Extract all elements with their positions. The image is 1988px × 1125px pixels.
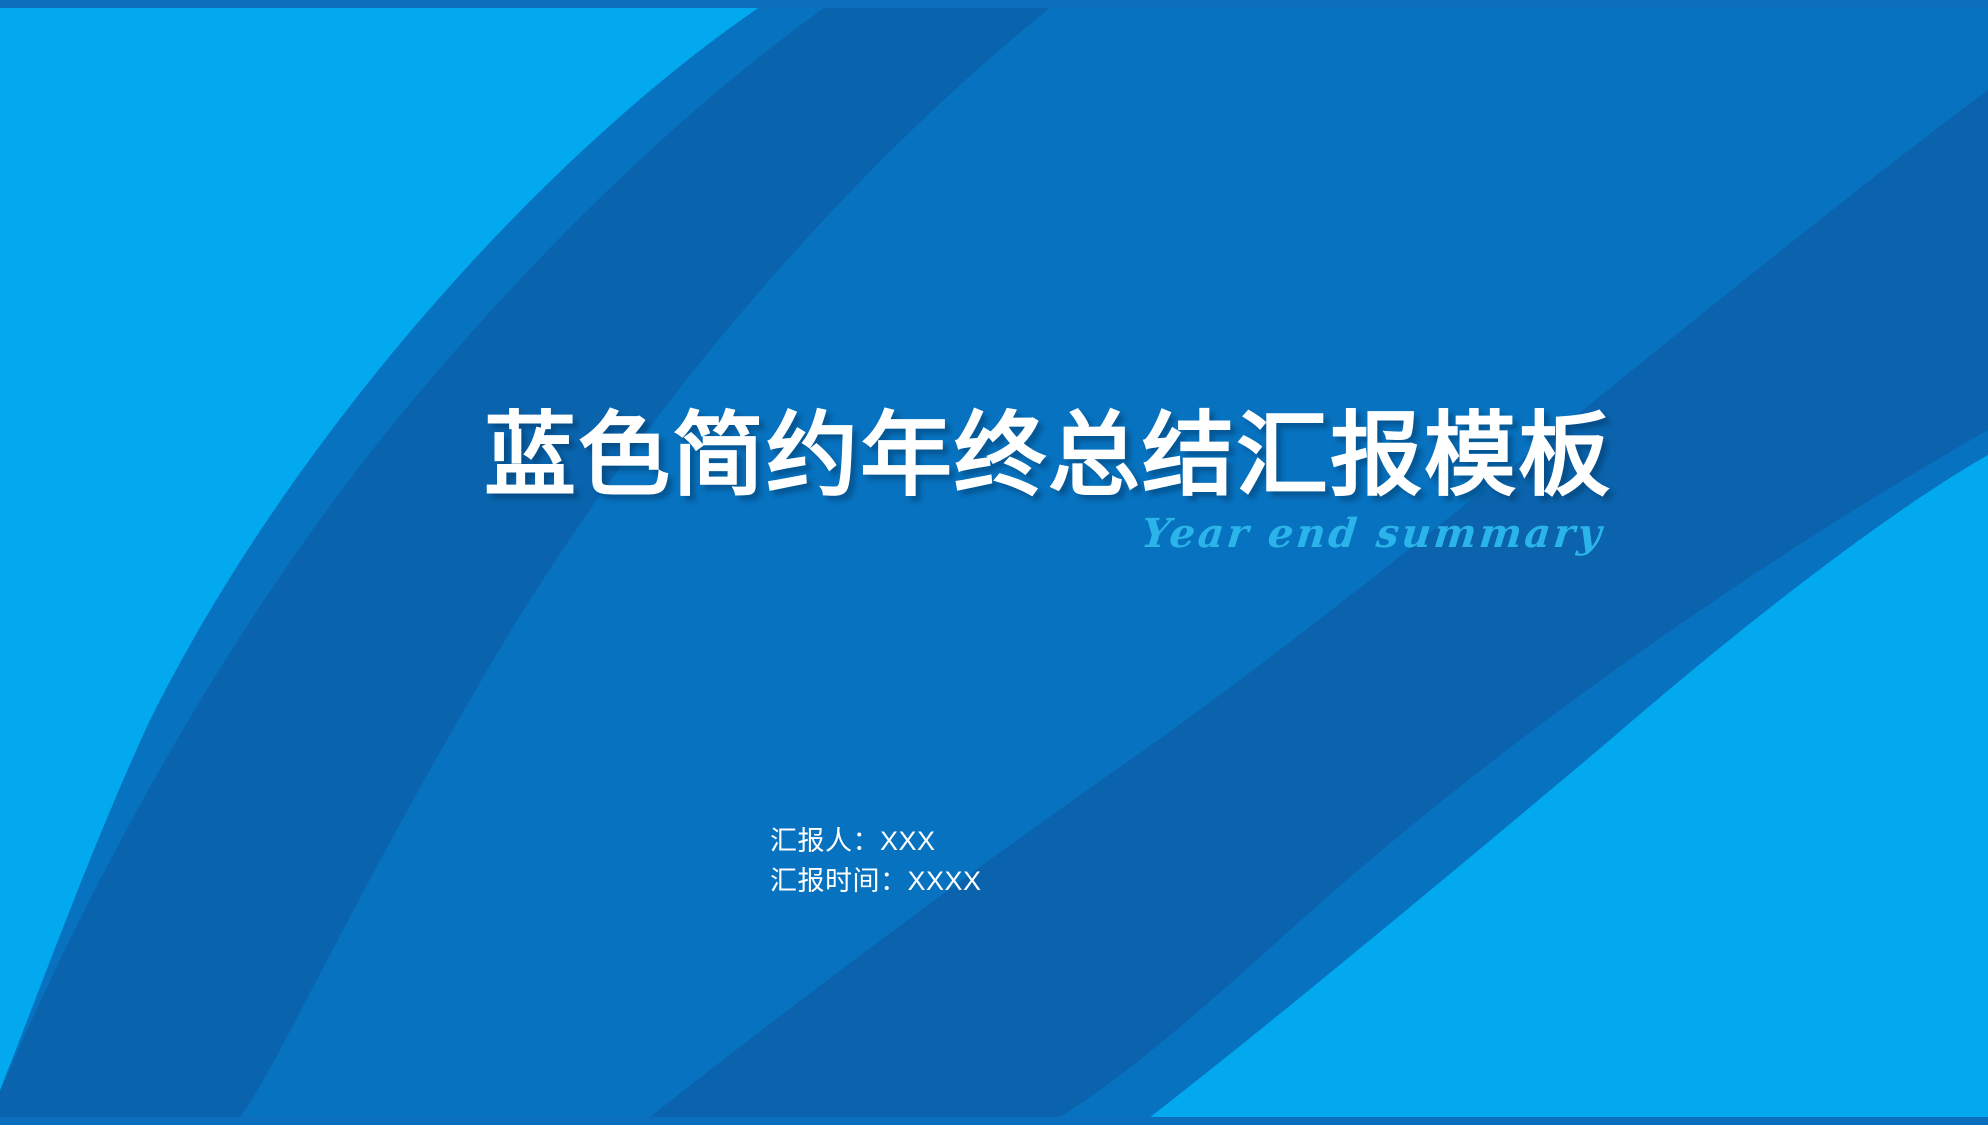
presenter-info-block: 汇报人：XXX 汇报时间：XXXX	[770, 822, 982, 902]
top-edge-strip	[0, 0, 1988, 8]
bottom-edge-strip	[0, 1117, 1988, 1125]
presentation-date-line: 汇报时间：XXXX	[770, 862, 982, 902]
title-block: 蓝色简约年终总结汇报模板 Year end summary	[0, 408, 1612, 554]
presentation-slide: 蓝色简约年终总结汇报模板 Year end summary 汇报人：XXX 汇报…	[0, 0, 1988, 1125]
presenter-name-line: 汇报人：XXX	[770, 822, 982, 862]
slide-subtitle: Year end summary	[0, 514, 1606, 554]
background-artwork	[0, 0, 1988, 1125]
slide-title: 蓝色简约年终总结汇报模板	[0, 408, 1612, 506]
